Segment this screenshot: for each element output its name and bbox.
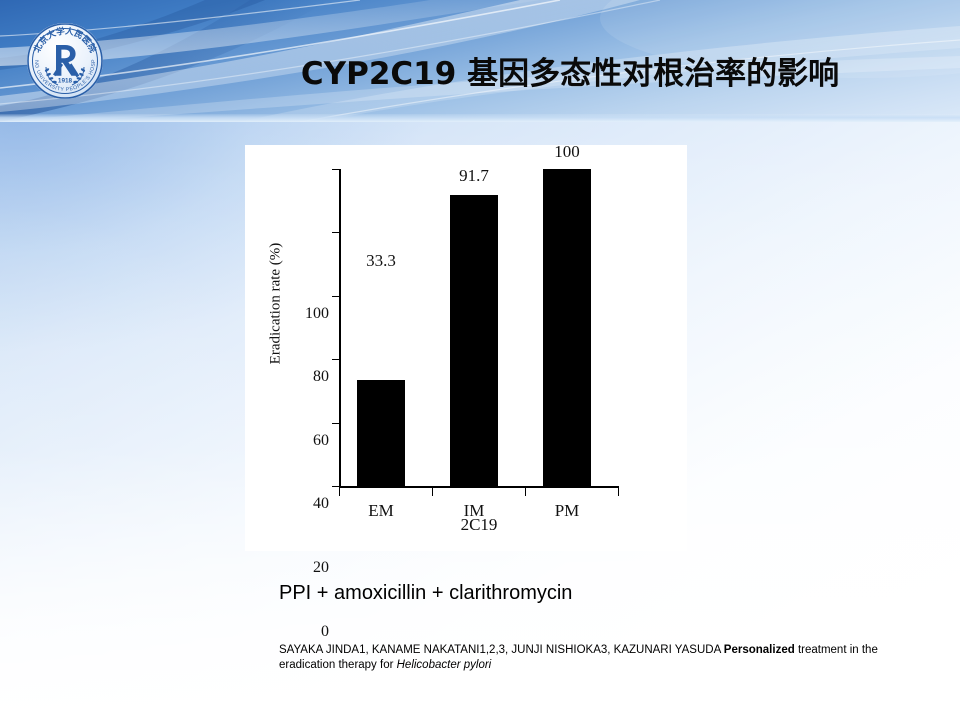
x-axis-label: 2C19 [339,515,619,535]
eradication-rate-bar-chart: Eradication rate (%) 100 80 60 40 20 0 [245,145,687,551]
y-tick-mark [332,169,339,170]
regimen-caption: PPI + amoxicillin + clarithromycin [279,582,572,605]
y-tick-label: 100 [295,306,329,322]
x-tick-mark [432,488,433,496]
y-tick-label: 40 [295,496,329,512]
y-tick-label: 80 [295,369,329,385]
peking-university-peoples-hospital-logo: 北京大学人民医院 PEKING UNIVERSITY PEOPLE'S HOSP… [26,22,104,100]
y-tick-mark [332,486,339,487]
y-tick-mark [332,423,339,424]
figure-panel: Eradication rate (%) 100 80 60 40 20 0 [245,145,687,551]
presentation-slide: 北京大学人民医院 PEKING UNIVERSITY PEOPLE'S HOSP… [0,0,960,720]
citation-text: SAYAKA JINDA1, KANAME NAKATANI1,2,3, JUN… [279,643,909,673]
svg-text:1918: 1918 [58,78,73,85]
plot-area: 33.3 91.7 100 EM IM PM [339,169,619,486]
y-tick-mark [332,232,339,233]
x-axis-line [339,486,619,488]
y-tick-label: 0 [295,624,329,640]
x-tick-mark [525,488,526,496]
y-axis-tick-labels: 100 80 60 40 20 0 [287,145,329,551]
bar-im [450,195,498,486]
y-tick-mark [332,296,339,297]
bar-value-em: 33.3 [346,252,416,270]
y-tick-label: 20 [295,560,329,576]
x-tick-mark [618,488,619,496]
y-tick-mark [332,359,339,360]
citation-organism: Helicobacter pylori [397,659,492,671]
bar-value-im: 91.7 [439,167,509,185]
bar-pm [543,169,591,486]
bar-value-pm: 100 [532,143,602,161]
citation-title-bold: Personalized [724,644,795,656]
bar-em [357,380,405,486]
y-tick-label: 60 [295,433,329,449]
y-axis-line [339,169,341,487]
page-title: CYP2C19 基因多态性对根治率的影响 [200,54,940,94]
y-axis-label: Eradication rate (%) [268,189,285,419]
x-tick-mark [339,488,340,496]
citation-authors: SAYAKA JINDA1, KANAME NAKATANI1,2,3, JUN… [279,644,724,656]
header-bottom-edge [0,114,960,122]
